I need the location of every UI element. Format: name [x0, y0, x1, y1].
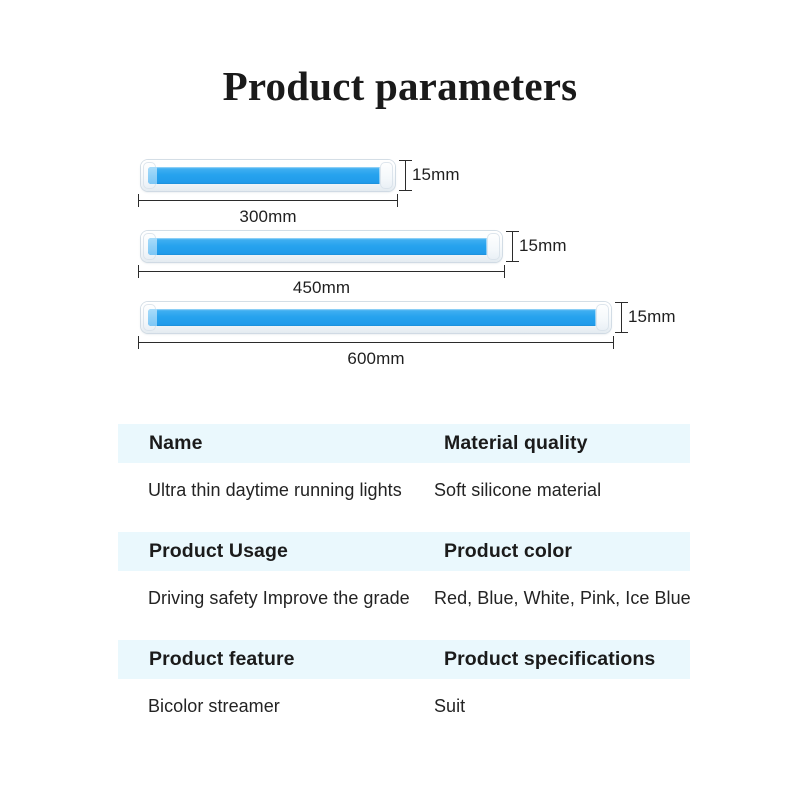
end-cap-left-icon	[148, 309, 157, 326]
height-dimension-300	[399, 160, 412, 191]
table-value-band: Driving safety Improve the grade Red, Bl…	[118, 571, 690, 631]
table-value-cell: Ultra thin daytime running lights	[148, 475, 402, 505]
table-header-cell: Material quality	[444, 424, 588, 463]
table-row: Name Material quality Ultra thin daytime…	[118, 424, 690, 532]
length-dimension-300-label: 300mm	[138, 207, 398, 227]
table-value-band: Ultra thin daytime running lights Soft s…	[118, 463, 690, 523]
specifications-table: Name Material quality Ultra thin daytime…	[118, 424, 690, 748]
length-dimension-450-label: 450mm	[138, 278, 505, 298]
dimension-tick-right-icon	[397, 194, 398, 207]
dimension-line-icon	[621, 302, 622, 333]
led-strip-300-light	[148, 167, 388, 184]
length-dimension-300	[138, 194, 398, 208]
led-strip-450-light	[148, 238, 495, 255]
dimension-line-icon	[405, 160, 406, 191]
table-header-band: Name Material quality	[118, 424, 690, 463]
dimension-tick-right-icon	[613, 336, 614, 349]
product-dimension-diagrams: 15mm 300mm 15mm 450mm	[0, 150, 800, 375]
end-cap-left-icon	[148, 238, 157, 255]
table-value-band: Bicolor streamer Suit	[118, 679, 690, 739]
dimension-tick-right-icon	[504, 265, 505, 278]
dimension-line-icon	[138, 200, 398, 201]
height-dimension-600-label: 15mm	[628, 307, 676, 327]
led-strip-300-body	[141, 160, 395, 191]
end-cap-right-icon	[486, 238, 495, 255]
table-value-cell: Soft silicone material	[434, 475, 601, 505]
table-header-band: Product feature Product specifications	[118, 640, 690, 679]
dimension-line-icon	[138, 271, 505, 272]
dimension-tick-bottom-icon	[506, 261, 519, 262]
table-header-cell: Product color	[444, 532, 572, 571]
length-dimension-600-label: 600mm	[138, 349, 614, 369]
table-header-cell: Product feature	[149, 640, 295, 679]
led-strip-600-body	[141, 302, 611, 333]
dimension-line-icon	[512, 231, 513, 262]
table-value-cell: Red, Blue, White, Pink, Ice Blue	[434, 583, 691, 613]
length-dimension-600	[138, 336, 614, 350]
dimension-tick-bottom-icon	[615, 332, 628, 333]
end-cap-right-icon	[595, 309, 604, 326]
table-value-cell: Driving safety Improve the grade	[148, 583, 410, 613]
table-row: Product Usage Product color Driving safe…	[118, 532, 690, 640]
height-dimension-450-label: 15mm	[519, 236, 567, 256]
end-cap-left-icon	[148, 167, 157, 184]
length-dimension-450	[138, 265, 505, 279]
height-dimension-300-label: 15mm	[412, 165, 460, 185]
end-cap-right-icon	[379, 167, 388, 184]
height-dimension-600	[615, 302, 628, 333]
table-header-band: Product Usage Product color	[118, 532, 690, 571]
table-value-cell: Suit	[434, 691, 465, 721]
table-value-cell: Bicolor streamer	[148, 691, 280, 721]
table-header-cell: Name	[149, 424, 203, 463]
height-dimension-450	[506, 231, 519, 262]
dimension-tick-bottom-icon	[399, 190, 412, 191]
table-header-cell: Product specifications	[444, 640, 655, 679]
led-strip-450-body	[141, 231, 502, 262]
dimension-line-icon	[138, 342, 614, 343]
table-row: Product feature Product specifications B…	[118, 640, 690, 748]
page-title: Product parameters	[0, 62, 800, 110]
table-header-cell: Product Usage	[149, 532, 288, 571]
led-strip-600-light	[148, 309, 604, 326]
